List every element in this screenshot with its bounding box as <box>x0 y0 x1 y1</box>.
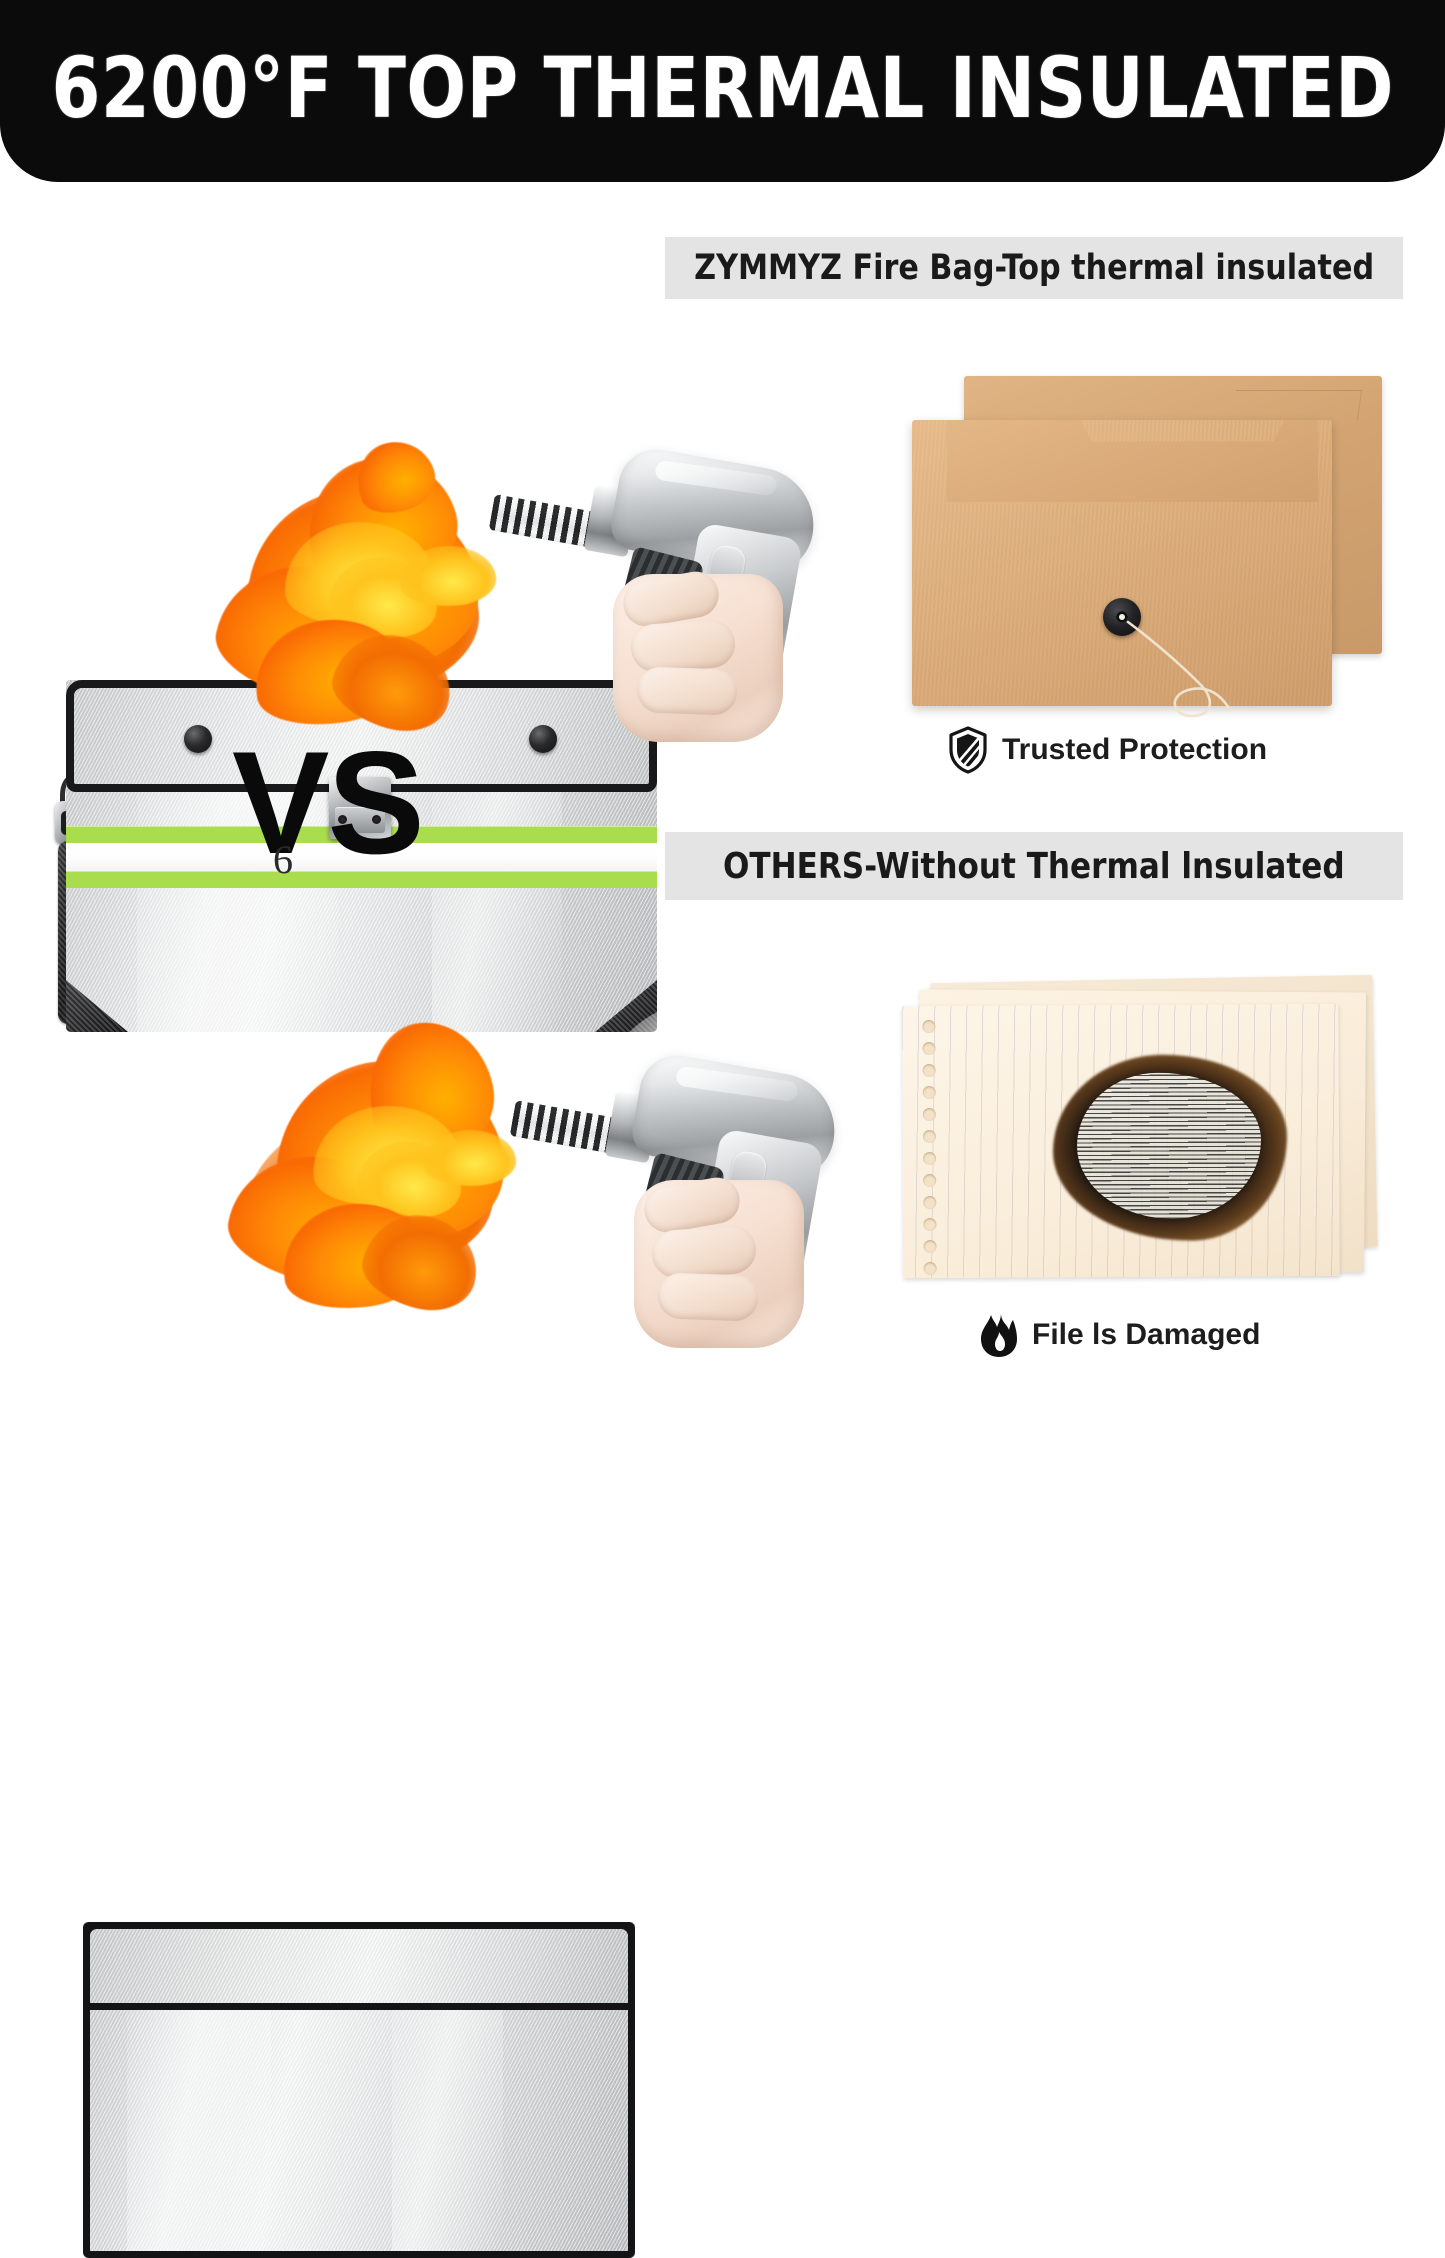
envelope-tab <box>947 420 1318 502</box>
label-bar-bottom-product: OTHERS-Without Thermal lnsulated <box>665 832 1403 900</box>
label-top-text: ZYMMYZ Fire Bag-Top thermal insulated <box>694 248 1374 288</box>
butane-torch-top <box>465 426 795 726</box>
punch-hole-column <box>922 1020 941 1264</box>
finger-middle <box>629 618 736 673</box>
caption-trusted-text: Trusted Protection <box>1002 733 1267 767</box>
page-title: 6200°F TOP THERMAL INSULATED <box>51 46 1393 136</box>
burn-hole <box>1053 1054 1288 1241</box>
clasp-screw-right <box>372 815 381 824</box>
caption-damaged-text: File ls Damaged <box>1032 1318 1260 1352</box>
envelope-seam <box>1232 390 1362 420</box>
envelope-front <box>912 420 1332 706</box>
paper-sheet-front <box>902 1004 1339 1278</box>
envelope-string <box>1126 618 1256 728</box>
flame-icon <box>980 1312 1018 1358</box>
label-bar-top-product: ZYMMYZ Fire Bag-Top thermal insulated <box>665 237 1403 299</box>
bag-number-label: 6 <box>273 836 293 883</box>
shield-icon <box>948 726 988 774</box>
caption-file-damaged: File ls Damaged <box>980 1312 1260 1358</box>
header-banner: 6200°F TOP THERMAL INSULATED <box>0 0 1445 182</box>
kraft-envelope-result <box>912 352 1382 712</box>
envelope-button-closure <box>1103 598 1141 636</box>
clasp-screw-left <box>338 815 347 824</box>
snap-button-right <box>529 725 557 753</box>
burned-paper-result <box>895 975 1385 1295</box>
ordinary-fire-bag <box>83 1922 635 2258</box>
label-bottom-text: OTHERS-Without Thermal lnsulated <box>723 846 1345 887</box>
butane-torch-bottom <box>486 1010 816 1310</box>
finger-ring <box>636 666 738 715</box>
finger-ring-bottom <box>657 1272 759 1321</box>
bottom-product-demo-scene <box>0 950 680 1350</box>
bag-flap-bottom <box>83 1922 635 2010</box>
vs-label: VS <box>232 730 423 876</box>
caption-trusted-protection: Trusted Protection <box>948 726 1267 774</box>
finger-middle-bottom <box>650 1224 757 1279</box>
snap-button-left <box>184 725 212 753</box>
top-product-demo-scene: 6 <box>0 330 660 730</box>
